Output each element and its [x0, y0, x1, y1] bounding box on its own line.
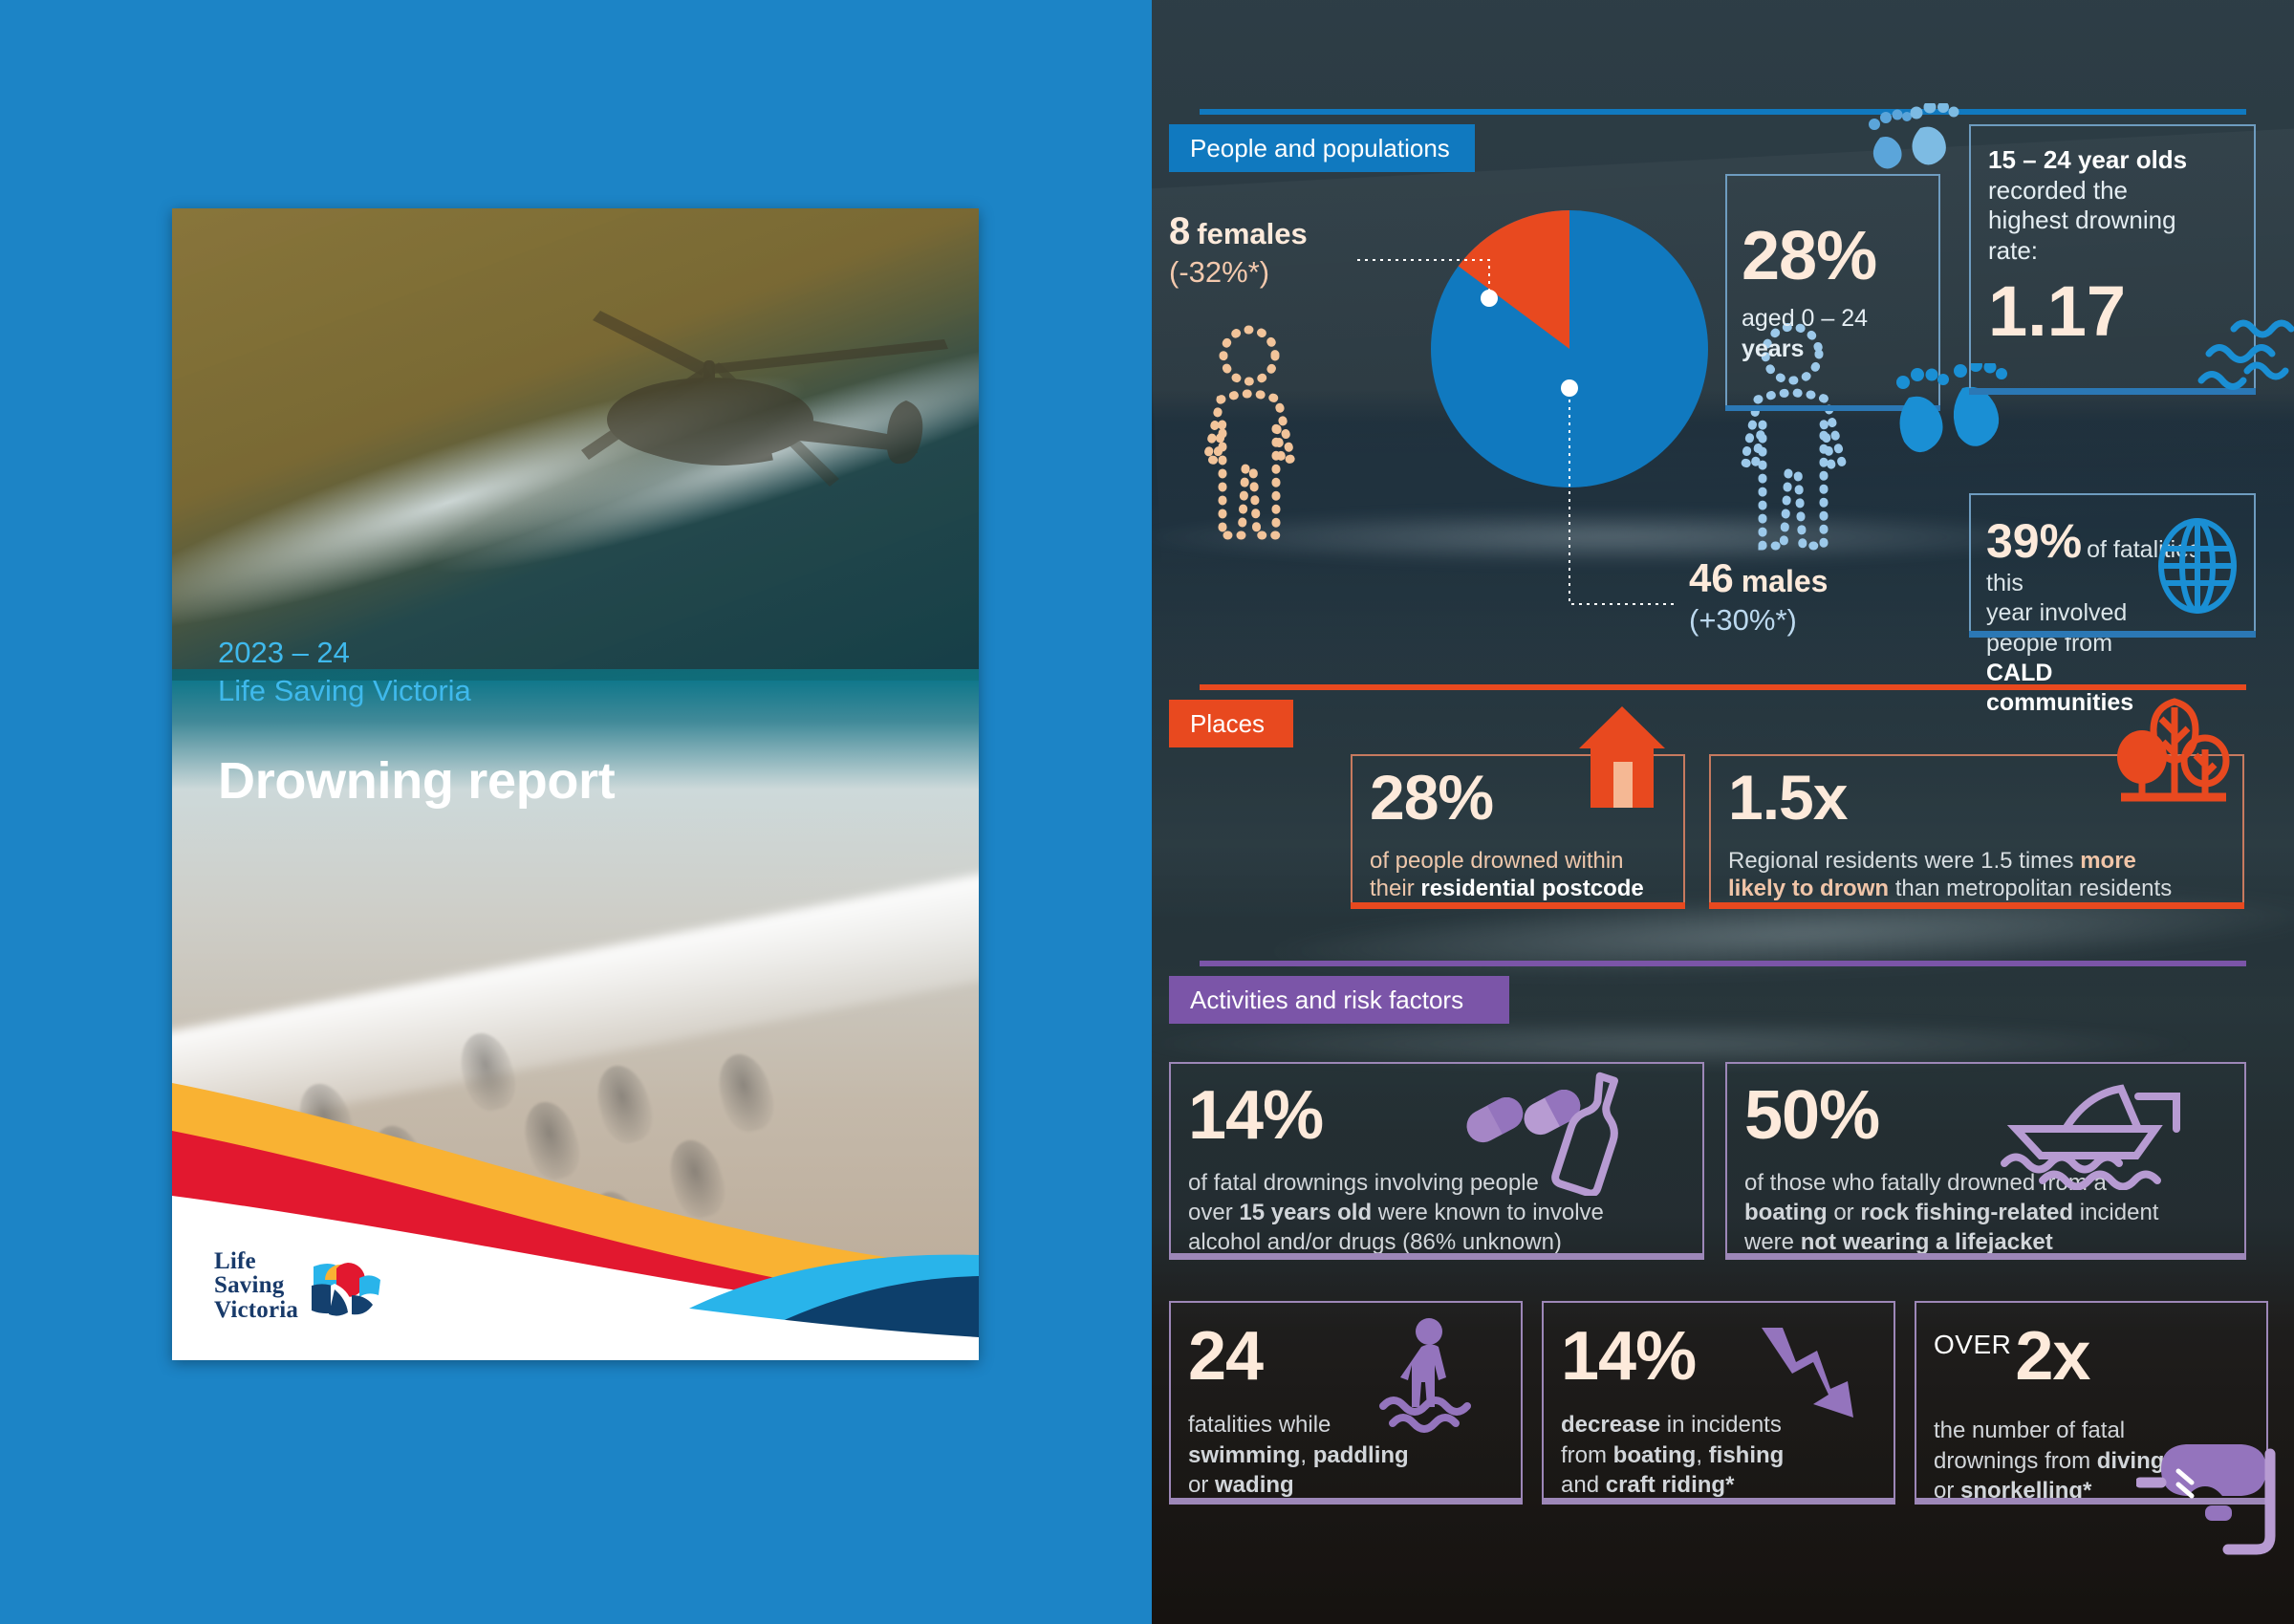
female-figure-icon — [1186, 325, 1312, 540]
swimming-stat-line2-bolda: swimming — [1188, 1442, 1300, 1468]
regional-stat-text2-plain: than metropolitan residents — [1889, 876, 2172, 901]
postcode-stat-underline — [1351, 902, 1685, 909]
trees-icon — [2108, 690, 2232, 814]
regional-stat-underline — [1709, 902, 2244, 909]
alcohol-stat-line2-bold: 15 years old — [1239, 1200, 1372, 1225]
water-waves-icon — [2194, 315, 2294, 397]
helicopter-shadow-icon — [543, 305, 954, 506]
rate-stat-body3: rate: — [1988, 236, 2038, 265]
boating-stat-line2-sep: , — [1696, 1442, 1708, 1468]
age-stat-line2: years — [1742, 336, 1804, 362]
lsv-logo: Life Saving Victoria — [214, 1249, 388, 1323]
infographic-panel: People and populations 8females (-32%*) — [1152, 0, 2294, 1624]
postcode-stat-text2-bold: residential postcode — [1420, 876, 1643, 901]
female-label: females — [1197, 217, 1307, 250]
boating-stat-line2a: from — [1561, 1442, 1613, 1468]
house-icon — [1577, 703, 1668, 812]
female-change: (-32%*) — [1169, 255, 1308, 290]
cald-stat-box: 39%of fatalities this year involved peop… — [1969, 493, 2256, 637]
male-label: males — [1742, 564, 1829, 598]
activities-section-rule — [1200, 961, 2246, 966]
lsv-logo-line3: Victoria — [214, 1298, 298, 1323]
diving-stat-line1: the number of fatal — [1934, 1418, 2125, 1443]
boating-decrease-stat-box: 14% decrease in incidents from boating, … — [1542, 1301, 1895, 1504]
regional-stat-text2-bold: likely to drown — [1728, 876, 1889, 901]
regional-stat-text1-plain: Regional residents were 1.5 times — [1728, 848, 2080, 874]
male-callout: 46males (+30%*) — [1689, 558, 1828, 638]
alcohol-stat-underline — [1169, 1253, 1704, 1260]
diving-stat-value: 2x — [2015, 1324, 2089, 1389]
places-section-rule — [1200, 684, 2246, 690]
lifejacket-stat-line3-bold: not wearing a lifejacket — [1801, 1229, 2053, 1255]
snorkel-mask-icon — [2136, 1429, 2294, 1563]
cover-aerial-photo — [172, 208, 979, 692]
section-tab-activities-label: Activities and risk factors — [1190, 985, 1463, 1015]
lifejacket-stat-line2-boldb: rock fishing-related — [1860, 1200, 2073, 1225]
section-tab-people-label: People and populations — [1190, 134, 1450, 163]
swimming-stat-line1: fatalities while — [1188, 1412, 1331, 1438]
boat-icon — [1995, 1075, 2224, 1190]
boating-stat-line2-boldb: fishing — [1709, 1442, 1785, 1468]
boating-stat-line1-bold: decrease — [1561, 1412, 1660, 1438]
swimming-stat-box: 24 fatalities while swimming, paddling o… — [1169, 1301, 1523, 1504]
rate-stat-heading: 15 – 24 year olds — [1988, 145, 2187, 176]
postcode-stat-text2-plain: their — [1370, 876, 1420, 901]
female-callout: 8females (-32%*) — [1169, 212, 1308, 290]
boating-decrease-stat-underline — [1542, 1498, 1895, 1505]
alcohol-stat-box: 14% of fatal drownings involving people … — [1169, 1062, 1704, 1259]
alcohol-stat-line2a: over — [1188, 1200, 1239, 1225]
swimming-stat-underline — [1169, 1498, 1523, 1505]
regional-stat-value: 1.5x — [1728, 768, 2172, 828]
boating-stat-line3-bold: craft riding* — [1606, 1472, 1735, 1498]
lsv-logo-line1: Life — [214, 1249, 298, 1274]
lifejacket-stat-line2-mid: or — [1828, 1200, 1861, 1225]
people-section-rule — [1200, 109, 2246, 115]
postcode-stat-text1: of people drowned within — [1370, 848, 1624, 874]
diving-stat-line2a: drownings from — [1934, 1448, 2097, 1474]
rate-stat-body2: highest drowning — [1988, 206, 2176, 234]
globe-icon — [2157, 518, 2239, 614]
age-stat-value: 28% — [1742, 224, 1876, 289]
lsv-logo-line2: Saving — [214, 1273, 298, 1298]
swimming-stat-line2-boldb: paddling — [1313, 1442, 1409, 1468]
section-tab-activities[interactable]: Activities and risk factors — [1169, 976, 1509, 1024]
female-count: 8 — [1169, 210, 1190, 252]
lifejacket-stat-line2-bolda: boating — [1744, 1200, 1828, 1225]
pie-callout-lines — [1324, 210, 1725, 650]
cover-title: Drowning report — [218, 751, 615, 811]
boating-stat-line2-bolda: boating — [1613, 1442, 1697, 1468]
rate-stat-body1: recorded the — [1988, 176, 2128, 205]
downward-arrow-icon — [1754, 1322, 1869, 1437]
lifejacket-stat-line3a: were — [1744, 1229, 1801, 1255]
boating-stat-value: 14% — [1561, 1324, 1784, 1389]
cover-heading: 2023 – 24 Life Saving Victoria Drowning … — [218, 634, 615, 811]
swimming-stat-line2-sep: , — [1300, 1442, 1312, 1468]
section-tab-places-label: Places — [1190, 709, 1265, 739]
diving-stat-prefix: OVER — [1934, 1330, 2011, 1360]
section-tab-people[interactable]: People and populations — [1169, 124, 1475, 172]
cover-year: 2023 – 24 — [218, 634, 615, 672]
swimmer-icon — [1372, 1314, 1510, 1439]
male-change: (+30%*) — [1689, 603, 1828, 638]
swimming-stat-line3a: or — [1188, 1472, 1215, 1498]
cald-stat-underline — [1969, 631, 2256, 638]
alcohol-stat-line2b: were known to involve — [1372, 1200, 1604, 1225]
lsv-logo-mark-icon — [306, 1251, 388, 1320]
cover-panel: Life Saving Victoria 2023 – 24 Lif — [0, 0, 1152, 1624]
regional-stat-text1-bold: more — [2080, 848, 2136, 874]
lifejacket-stat-underline — [1725, 1253, 2246, 1260]
male-count: 46 — [1689, 555, 1734, 600]
age-stat-line1: aged 0 – 24 — [1742, 305, 1868, 332]
section-tab-places[interactable]: Places — [1169, 700, 1293, 747]
infographic-page: Life Saving Victoria 2023 – 24 Lif — [0, 0, 2294, 1624]
cald-stat-value: 39% — [1986, 514, 2082, 568]
lsv-logo-text: Life Saving Victoria — [214, 1249, 298, 1323]
baby-footprints-icon — [1861, 103, 1966, 191]
rate-stat-value: 1.17 — [1988, 276, 2187, 347]
boating-stat-line3a: and — [1561, 1472, 1606, 1498]
report-cover: Life Saving Victoria 2023 – 24 Lif — [172, 208, 979, 1360]
lifejacket-stat-box: 50% of those who fatally drowned from a … — [1725, 1062, 2246, 1259]
swimming-stat-line3-bold: wading — [1215, 1472, 1294, 1498]
pills-and-bottle-icon — [1448, 1072, 1620, 1196]
alcohol-stat-line3: alcohol and/or drugs (86% unknown) — [1188, 1229, 1562, 1255]
cover-organisation: Life Saving Victoria — [218, 672, 615, 710]
lifejacket-stat-line2-end: incident — [2073, 1200, 2158, 1225]
